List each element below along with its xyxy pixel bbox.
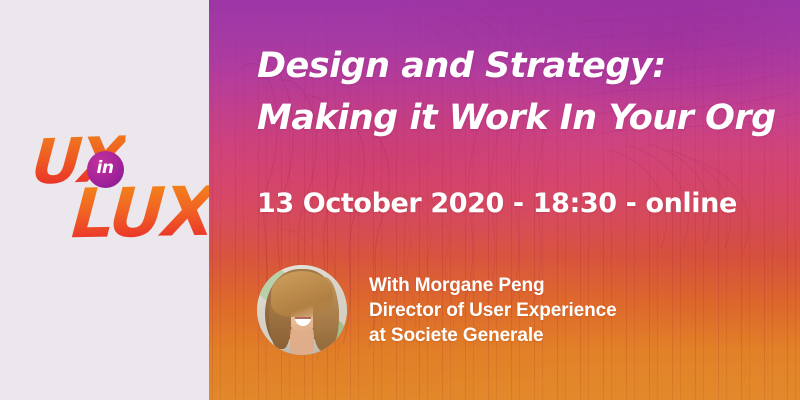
speaker-details: With Morgane Peng Director of User Exper… bbox=[369, 265, 617, 348]
event-poster: UX in LUX bbox=[0, 0, 800, 400]
avatar-hair-highlight bbox=[271, 271, 333, 317]
speaker-title-line: Director of User Experience bbox=[369, 298, 617, 323]
logo-word-lux: LUX bbox=[69, 179, 209, 249]
content-panel: Design and Strategy: Making it Work In Y… bbox=[209, 0, 800, 400]
logo-badge-label: in bbox=[97, 160, 114, 177]
logo-panel: UX in LUX bbox=[0, 0, 209, 400]
avatar bbox=[257, 265, 347, 355]
headline-line-1: Design and Strategy: bbox=[257, 40, 777, 92]
logo-in-badge: in bbox=[87, 151, 124, 188]
ux-in-lux-logo: UX in LUX bbox=[30, 130, 180, 270]
speaker-block: With Morgane Peng Director of User Exper… bbox=[257, 265, 617, 355]
page-title: Design and Strategy: Making it Work In Y… bbox=[257, 40, 777, 144]
speaker-org-line: at Societe Generale bbox=[369, 323, 617, 348]
headline-line-2: Making it Work In Your Org bbox=[257, 92, 777, 144]
speaker-name-line: With Morgane Peng bbox=[369, 273, 617, 298]
event-datetime: 13 October 2020 - 18:30 - online bbox=[257, 188, 737, 219]
